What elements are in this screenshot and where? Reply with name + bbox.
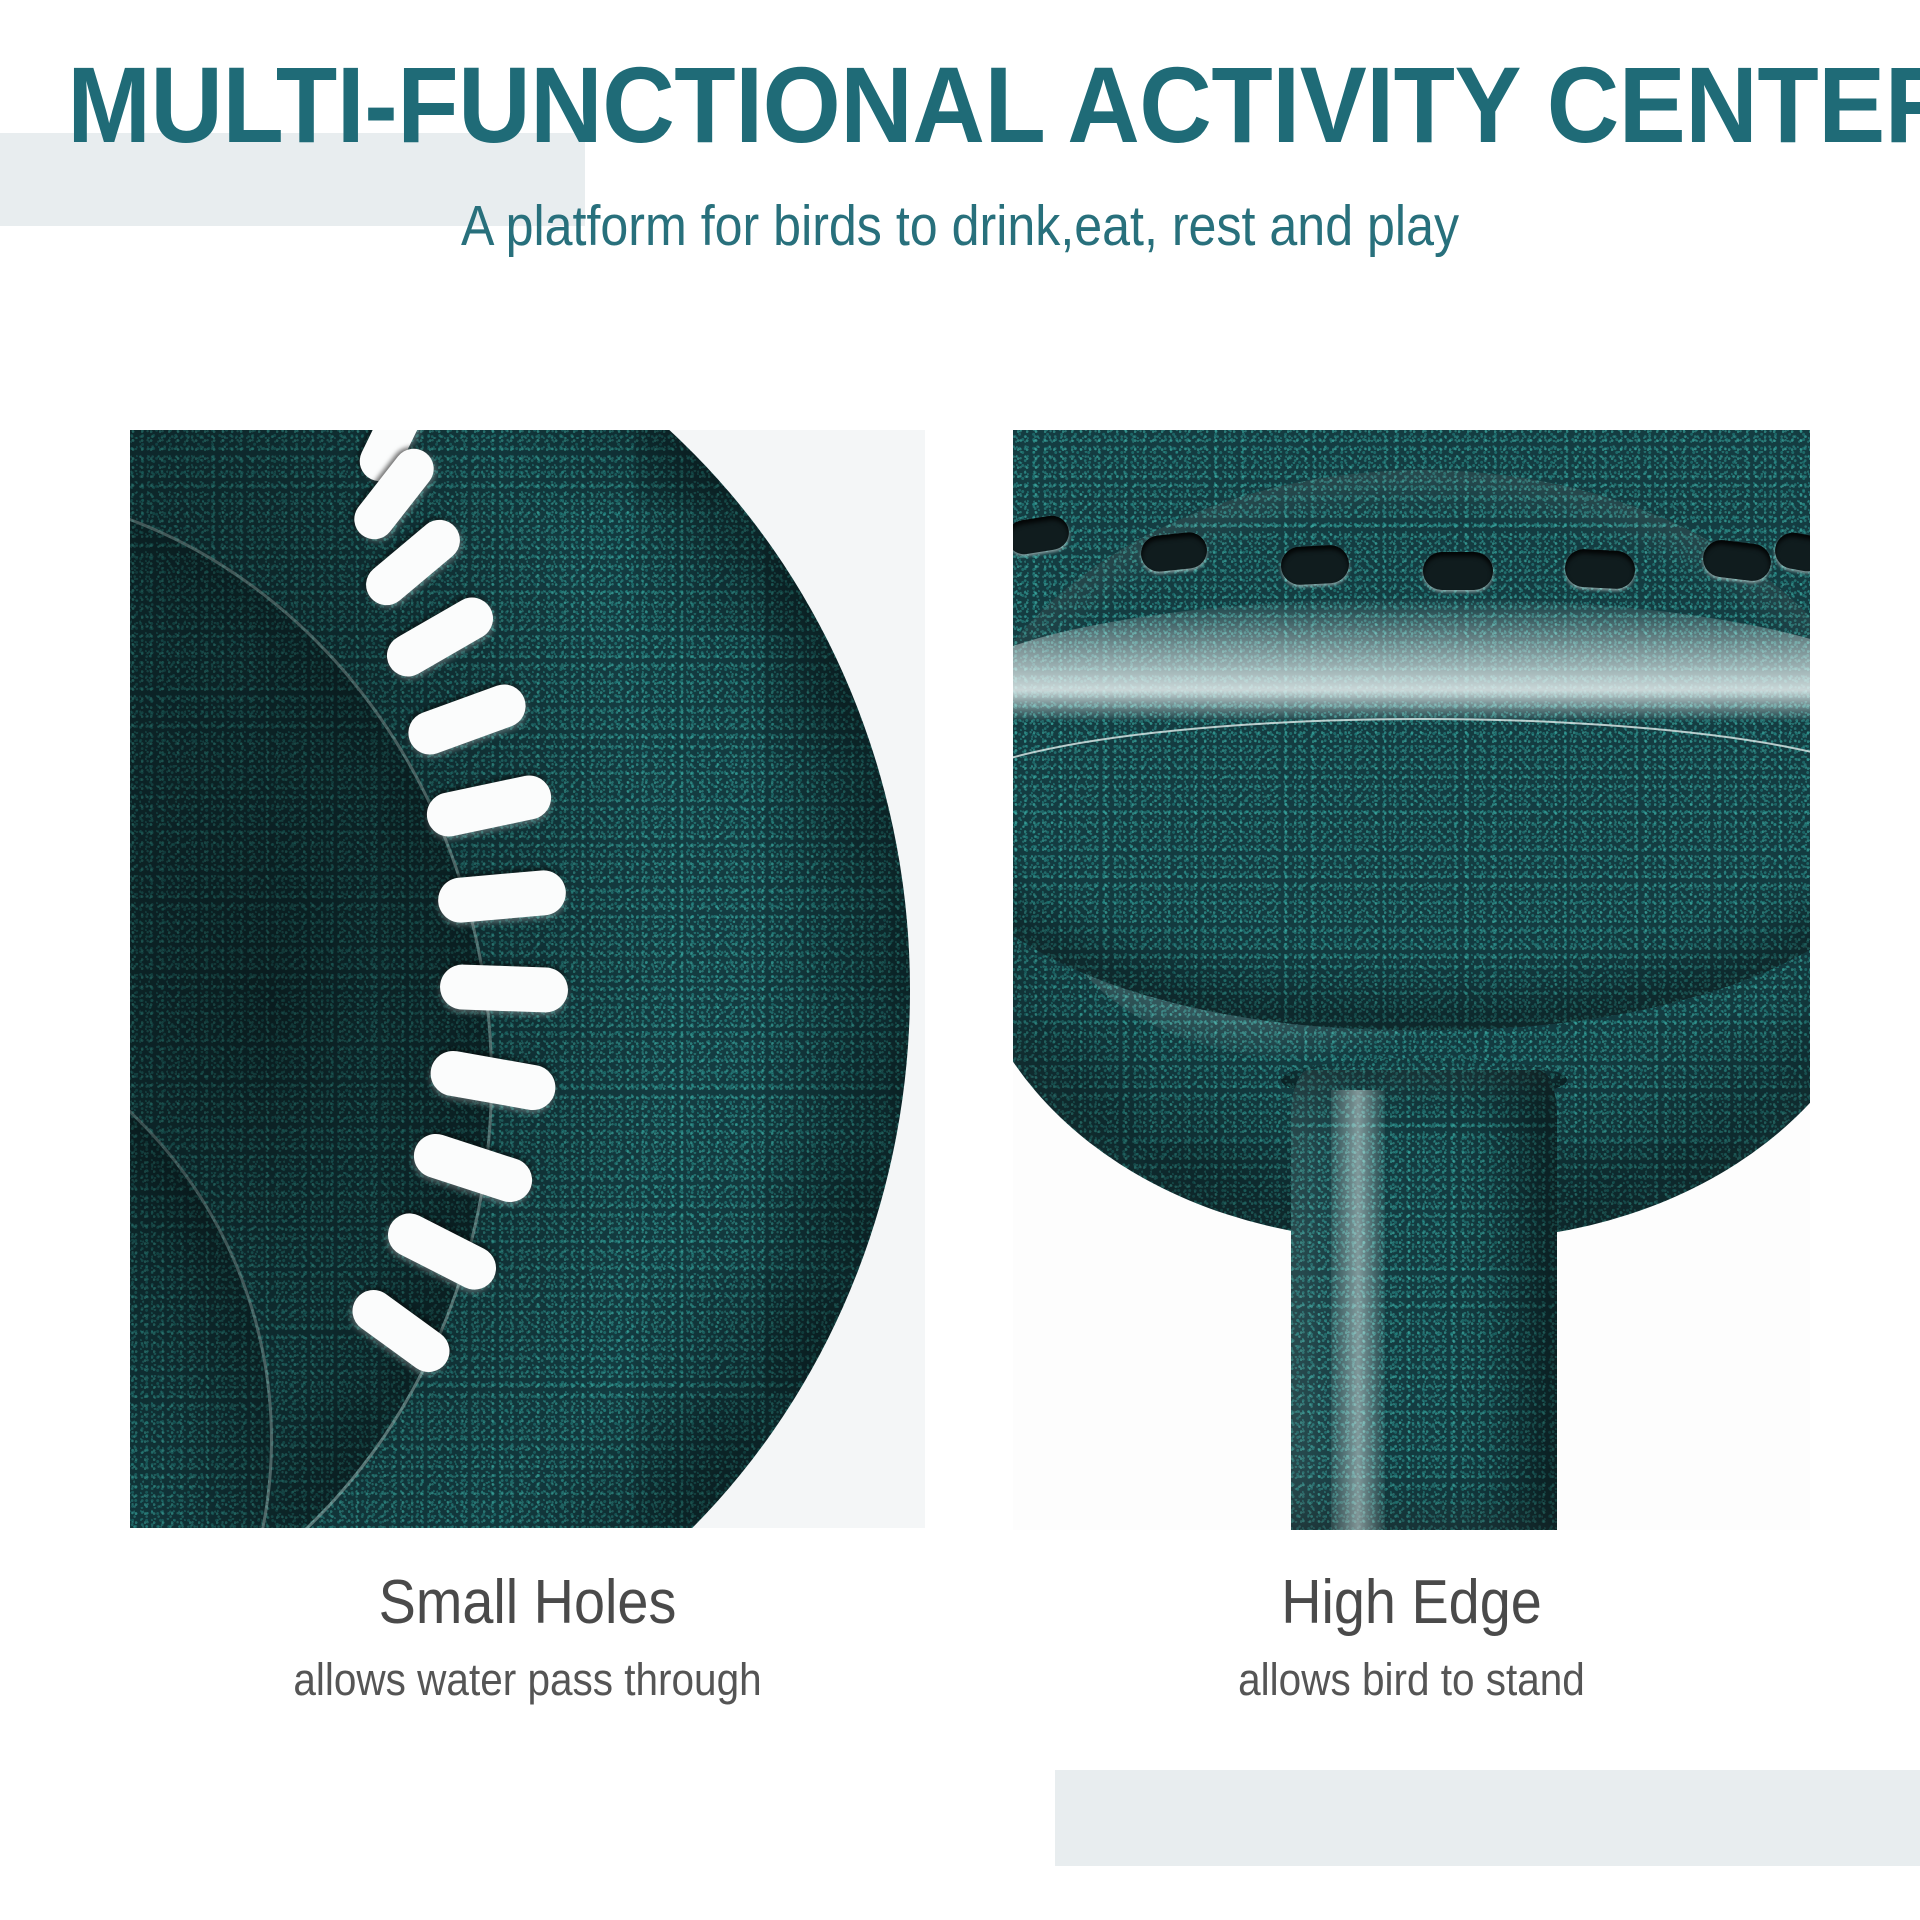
caption-title: High Edge xyxy=(1053,1560,1770,1646)
drainage-slot xyxy=(439,964,568,1013)
caption-description: allows water pass through xyxy=(170,1646,886,1714)
feature-panel-high-edge xyxy=(1013,430,1810,1530)
caption-high-edge: High Edge allows bird to stand xyxy=(1013,1560,1810,1714)
edge-hole xyxy=(1280,544,1350,586)
caption-description: allows bird to stand xyxy=(1053,1646,1770,1714)
caption-title: Small Holes xyxy=(170,1560,886,1646)
pedestal-column xyxy=(1291,1070,1557,1530)
product-photo-high-edge xyxy=(1013,430,1810,1530)
page-subtitle: A platform for birds to drink,eat, rest … xyxy=(115,188,1805,264)
edge-hole xyxy=(1564,548,1636,590)
caption-small-holes: Small Holes allows water pass through xyxy=(130,1560,925,1714)
decorative-block-bottom-right xyxy=(1055,1770,1920,1866)
page-title: MULTI-FUNCTIONAL ACTIVITY CENTER xyxy=(67,46,1853,164)
feature-panel-small-holes xyxy=(130,430,925,1528)
product-photo-small-holes xyxy=(130,430,925,1528)
edge-hole xyxy=(1423,552,1493,590)
birdbath-high-edge-rim xyxy=(1013,470,1810,1030)
